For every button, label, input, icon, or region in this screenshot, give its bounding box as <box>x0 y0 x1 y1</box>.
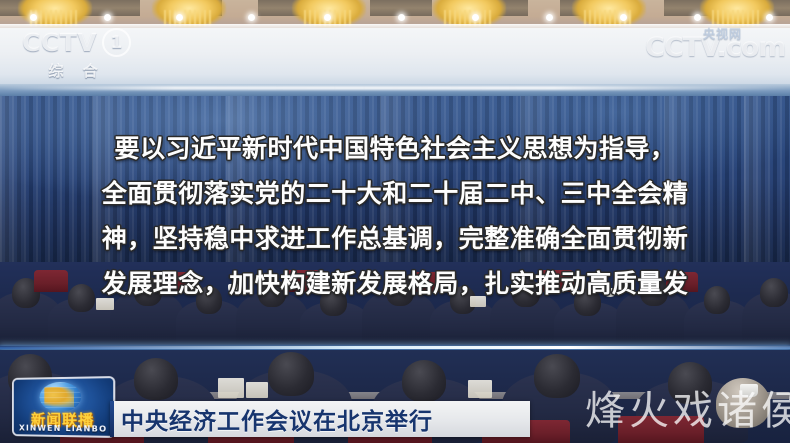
headline-bar: 中央经济工作会议在北京举行 <box>110 401 530 437</box>
site-watermark-chinese: 央视网 <box>703 25 742 42</box>
subtitle-line: 神，坚持稳中求进工作总基调，完整准确全面贯彻新 <box>0 216 790 261</box>
broadcast-screenshot: CCTV 1 综 合 央视网 CCTV.com 要以习近平新时代中国特色社会主义… <box>0 0 790 443</box>
headline-text: 中央经济工作会议在北京举行 <box>110 402 433 436</box>
channel-number: 1 <box>102 28 131 57</box>
wall-highlight <box>0 86 790 90</box>
headline-accent-bar <box>110 401 114 437</box>
subtitle-line: 要以习近平新时代中国特色社会主义思想为指导， <box>0 126 790 171</box>
tier-divider-glow <box>0 346 790 349</box>
channel-subtitle: 综 合 <box>22 60 131 81</box>
program-logo-xinwen-lianbo: 新闻联播 XINWEN LIANBO <box>14 378 113 436</box>
channel-logo-text: CCTV <box>22 30 97 56</box>
subtitle-block: 要以习近平新时代中国特色社会主义思想为指导， 全面贯彻落实党的二十大和二十届二中… <box>0 126 790 306</box>
channel-logo-cctv1: CCTV 1 综 合 <box>22 28 131 81</box>
subtitle-line: 发展理念，加快构建新发展格局，扎实推动高质量发 <box>0 261 790 306</box>
subtitle-line: 全面贯彻落实党的二十大和二十届二中、三中全会精 <box>0 171 790 216</box>
site-watermark: 央视网 CCTV.com <box>645 34 785 62</box>
program-logo-pinyin: XINWEN LIANBO <box>14 423 113 433</box>
user-watermark: 烽火戏诸侯 <box>585 389 790 433</box>
globe-icon <box>39 382 81 412</box>
